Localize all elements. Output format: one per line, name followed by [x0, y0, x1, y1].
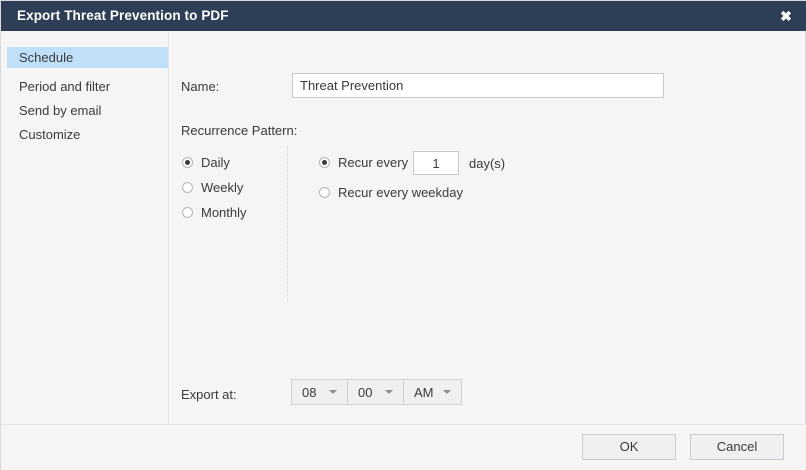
- minute-value: 00: [348, 385, 385, 400]
- chevron-down-icon: [385, 390, 393, 394]
- name-label: Name:: [181, 79, 219, 94]
- close-icon[interactable]: ✖: [773, 1, 799, 31]
- radio-indicator-daily[interactable]: [182, 157, 193, 168]
- recur-interval-unit-label: day(s): [469, 156, 505, 171]
- dialog-sidebar: Schedule Period and filter Send by email…: [1, 32, 169, 424]
- radio-label-weekly[interactable]: Weekly: [201, 179, 243, 197]
- dialog-titlebar: Export Threat Prevention to PDF ✖: [1, 1, 806, 31]
- radio-indicator-recur-every[interactable]: [319, 157, 330, 168]
- chevron-down-icon: [443, 390, 451, 394]
- radio-label-monthly[interactable]: Monthly: [201, 204, 247, 222]
- radio-indicator-recur-every-weekday[interactable]: [319, 187, 330, 198]
- meridiem-value: AM: [404, 385, 443, 400]
- sidebar-item-customize[interactable]: Customize: [7, 124, 168, 145]
- hour-value: 08: [292, 385, 329, 400]
- name-input[interactable]: [292, 73, 664, 98]
- sidebar-item-label: Customize: [19, 127, 80, 142]
- meridiem-dropdown[interactable]: AM: [404, 380, 461, 404]
- recurrence-pattern-heading: Recurrence Pattern:: [181, 123, 297, 138]
- sidebar-item-schedule[interactable]: Schedule: [7, 47, 168, 68]
- export-at-label: Export at:: [181, 387, 237, 402]
- radio-indicator-weekly[interactable]: [182, 182, 193, 193]
- sidebar-item-label: Send by email: [19, 103, 101, 118]
- dialog-footer: OK Cancel: [1, 425, 806, 470]
- hour-dropdown[interactable]: 08: [292, 380, 348, 404]
- sidebar-item-send-by-email[interactable]: Send by email: [7, 100, 168, 121]
- sidebar-item-label: Period and filter: [19, 79, 110, 94]
- minute-dropdown[interactable]: 00: [348, 380, 404, 404]
- ok-button[interactable]: OK: [582, 434, 676, 460]
- radio-label-recur-every[interactable]: Recur every: [338, 154, 408, 172]
- recur-interval-input[interactable]: [413, 151, 459, 175]
- cancel-button[interactable]: Cancel: [690, 434, 784, 460]
- dialog-content: Name: Recurrence Pattern: Daily Weekly M…: [169, 32, 806, 424]
- chevron-down-icon: [329, 390, 337, 394]
- radio-indicator-monthly[interactable]: [182, 207, 193, 218]
- export-time-picker: 08 00 AM: [291, 379, 462, 405]
- dialog-title: Export Threat Prevention to PDF: [17, 1, 229, 31]
- export-dialog: Export Threat Prevention to PDF ✖ Schedu…: [0, 0, 806, 470]
- sidebar-item-label: Schedule: [19, 50, 73, 65]
- radio-label-recur-every-weekday[interactable]: Recur every weekday: [338, 184, 463, 202]
- radio-label-daily[interactable]: Daily: [201, 154, 230, 172]
- section-divider: [287, 146, 289, 302]
- sidebar-item-period-and-filter[interactable]: Period and filter: [7, 76, 168, 97]
